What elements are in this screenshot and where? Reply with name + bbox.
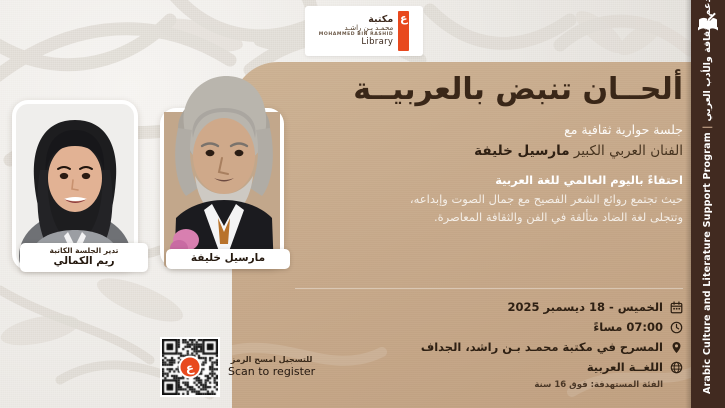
logo-english-line-2: Library: [319, 38, 393, 47]
sidebar-separator: |: [699, 125, 716, 129]
headline-block: ألحــان تنبض بالعربيــة جلسة حوارية ثقاف…: [283, 72, 683, 227]
page-title: ألحــان تنبض بالعربيــة: [283, 72, 683, 108]
calendar-icon: [670, 301, 683, 314]
moderator-portrait: [16, 104, 134, 266]
globe-icon: [670, 361, 683, 374]
speaker-badge-moderator: تدير الجلسة الكاتبة ريم الكمالي: [20, 243, 148, 272]
artist-portrait: [164, 112, 280, 264]
detail-row-date: الخميس - 18 ديسمبر 2025: [283, 300, 683, 314]
detail-row-location: المسرح في مكتبة محمـد بـن راشد، الجداف: [283, 340, 683, 354]
sidebar-text-english: Arabic Culture and Literature Support Pr…: [702, 132, 713, 394]
audience-note: الفئة المستهدفة: فوق 16 سنة: [283, 380, 683, 390]
body-line-1: حيث تجتمع روائع الشعر الفصيح مع جمال الص…: [283, 191, 683, 209]
qr-caption-english: Scan to register: [228, 365, 315, 379]
artist-badge-name: مارسيل خليفة: [174, 252, 282, 266]
event-details: الخميس - 18 ديسمبر 2025 07:00 مساءً المس…: [283, 300, 683, 390]
event-poster: مكتبة محمـد بـن راشـد Mohammed Bin Rashi…: [0, 0, 725, 408]
body-line-2: وتتجلى لغة الضاد متألقة في الفن والثقافة…: [283, 209, 683, 227]
section-divider: [295, 288, 683, 289]
detail-row-language: اللغــة العربية: [283, 360, 683, 374]
moderator-name: ريم الكمالي: [28, 255, 140, 269]
speaker-badge-artist: مارسيل خليفة: [166, 249, 290, 269]
library-logo: مكتبة محمـد بـن راشـد Mohammed Bin Rashi…: [305, 6, 423, 56]
subtitle-line-1: جلسة حوارية ثقافية مع: [283, 122, 683, 139]
program-sidebar: Arabic Culture and Literature Support Pr…: [691, 0, 725, 408]
artist-name: مارسيل خليفة: [474, 143, 569, 159]
subtitle-line-2: الفنان العربي الكبير مارسيل خليفة: [283, 142, 683, 160]
registration-qr-block[interactable]: ع للتسجيل امسح الرمز Scan to register: [160, 337, 315, 397]
logo-mark-icon: ع: [398, 11, 409, 51]
qr-center-logo-icon: ع: [181, 358, 200, 377]
subtitle-prefix: الفنان العربي الكبير: [574, 143, 683, 159]
speaker-photo-frame-artist: [160, 108, 284, 268]
moderator-role: تدير الجلسة الكاتبة: [28, 246, 140, 255]
qr-caption-arabic: للتسجيل امسح الرمز: [228, 355, 315, 365]
clock-icon: [670, 321, 683, 334]
location-pin-icon: [670, 341, 683, 354]
qr-code[interactable]: ع: [160, 337, 220, 397]
detail-time-text: 07:00 مساءً: [593, 320, 663, 334]
qr-caption: للتسجيل امسح الرمز Scan to register: [228, 355, 315, 380]
detail-location-text: المسرح في مكتبة محمـد بـن راشد، الجداف: [421, 340, 663, 354]
body-heading: احتفاءً باليوم العالمي للغة العربية: [283, 173, 683, 187]
sidebar-program-text: Arabic Culture and Literature Support Pr…: [702, 0, 714, 394]
detail-date-text: الخميس - 18 ديسمبر 2025: [507, 300, 663, 314]
detail-row-time: 07:00 مساءً: [283, 320, 683, 334]
sidebar-text-arabic: برنامج دعم الثقافة والأدب العربي: [702, 0, 713, 121]
detail-language-text: اللغــة العربية: [587, 360, 663, 374]
